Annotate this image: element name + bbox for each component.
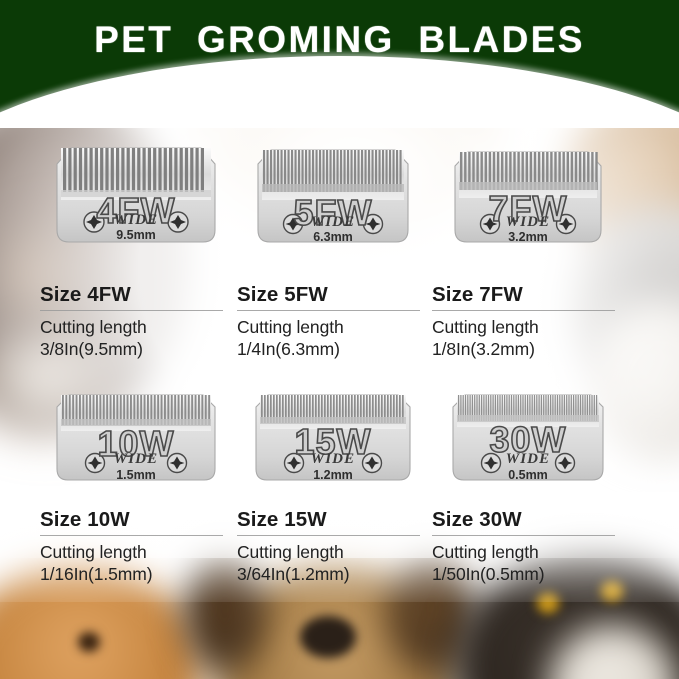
blade-caption-4fw: Size 4FW Cutting length 3/8In(9.5mm) [38, 284, 234, 360]
blade-screw-left [481, 215, 500, 234]
caption-rule [237, 535, 420, 536]
blade-graphic: 10W WIDE 1.5mm [47, 381, 225, 509]
page-title: PET GROMING BLADES [0, 19, 679, 61]
blade-image-5fw: 5FW WIDE 6.3mm [235, 134, 431, 284]
blade-screw-right [556, 454, 575, 473]
infographic-canvas: PET GROMING BLADES [0, 0, 679, 679]
blade-caption-5fw: Size 5FW Cutting length 1/4In(6.3mm) [235, 284, 431, 360]
caption-rule [237, 310, 420, 311]
blade-svg [47, 381, 225, 509]
caption-cutting-length-value: 1/4In(6.3mm) [237, 338, 431, 360]
caption-size: Size 30W [432, 509, 626, 531]
blade-graphic: 4FW WIDE 9.5mm [47, 134, 225, 282]
blade-image-15w: 15W WIDE 1.2mm [235, 381, 431, 509]
blade-screw-right [363, 454, 382, 473]
caption-rule [40, 535, 223, 536]
caption-rule [432, 310, 615, 311]
blade-graphic: 15W WIDE 1.2mm [244, 381, 422, 509]
blade-screw-left [482, 454, 501, 473]
blade-svg [439, 381, 617, 509]
blade-caption-30w: Size 30W Cutting length 1/50In(0.5mm) [430, 509, 626, 585]
blade-caption-10w: Size 10W Cutting length 1/16In(1.5mm) [38, 509, 234, 585]
blade-screw-right [557, 215, 576, 234]
blade-card-4fw[interactable]: 4FW WIDE 9.5mm Size 4FW Cutting length 3… [38, 134, 234, 360]
caption-cutting-length-value: 3/8In(9.5mm) [40, 338, 234, 360]
blade-screw-right [168, 454, 187, 473]
blade-screw-left [84, 212, 104, 232]
blade-screw-right [364, 215, 383, 234]
caption-cutting-length-label: Cutting length [40, 316, 234, 338]
blade-screw-right [168, 212, 188, 232]
caption-cutting-length-label: Cutting length [237, 316, 431, 338]
caption-cutting-length-label: Cutting length [432, 316, 626, 338]
blade-screw-left [285, 454, 304, 473]
blade-image-10w: 10W WIDE 1.5mm [38, 381, 234, 509]
caption-size: Size 5FW [237, 284, 431, 306]
caption-cutting-length-value: 1/16In(1.5mm) [40, 563, 234, 585]
caption-rule [432, 535, 615, 536]
blade-card-7fw[interactable]: 7FW WIDE 3.2mm Size 7FW Cutting length 1… [430, 134, 626, 360]
blade-svg [244, 381, 422, 509]
header-arc-shape [0, 56, 679, 128]
caption-cutting-length-value: 3/64In(1.2mm) [237, 563, 431, 585]
caption-cutting-length-label: Cutting length [432, 541, 626, 563]
caption-cutting-length-value: 1/8In(3.2mm) [432, 338, 626, 360]
caption-size: Size 7FW [432, 284, 626, 306]
blade-caption-7fw: Size 7FW Cutting length 1/8In(3.2mm) [430, 284, 626, 360]
blade-svg [47, 134, 225, 282]
caption-size: Size 4FW [40, 284, 234, 306]
blade-card-5fw[interactable]: 5FW WIDE 6.3mm Size 5FW Cutting length 1… [235, 134, 431, 360]
blade-graphic: 5FW WIDE 6.3mm [244, 134, 422, 282]
blade-card-15w[interactable]: 15W WIDE 1.2mm Size 15W Cutting length 3… [235, 381, 431, 585]
blade-card-10w[interactable]: 10W WIDE 1.5mm Size 10W Cutting length 1… [38, 381, 234, 585]
caption-cutting-length-label: Cutting length [237, 541, 431, 563]
caption-size: Size 10W [40, 509, 234, 531]
caption-cutting-length-label: Cutting length [40, 541, 234, 563]
blade-screw-left [284, 215, 303, 234]
blade-image-4fw: 4FW WIDE 9.5mm [38, 134, 234, 284]
blade-svg [244, 134, 422, 282]
caption-cutting-length-value: 1/50In(0.5mm) [432, 563, 626, 585]
blade-graphic: 7FW WIDE 3.2mm [439, 134, 617, 282]
blade-screw-left [86, 454, 105, 473]
blade-svg [439, 134, 617, 282]
blade-card-30w[interactable]: 30W WIDE 0.5mm Size 30W Cutting length 1… [430, 381, 626, 585]
caption-size: Size 15W [237, 509, 431, 531]
blade-caption-15w: Size 15W Cutting length 3/64In(1.2mm) [235, 509, 431, 585]
blade-image-30w: 30W WIDE 0.5mm [430, 381, 626, 509]
blade-image-7fw: 7FW WIDE 3.2mm [430, 134, 626, 284]
blade-graphic: 30W WIDE 0.5mm [439, 381, 617, 509]
caption-rule [40, 310, 223, 311]
